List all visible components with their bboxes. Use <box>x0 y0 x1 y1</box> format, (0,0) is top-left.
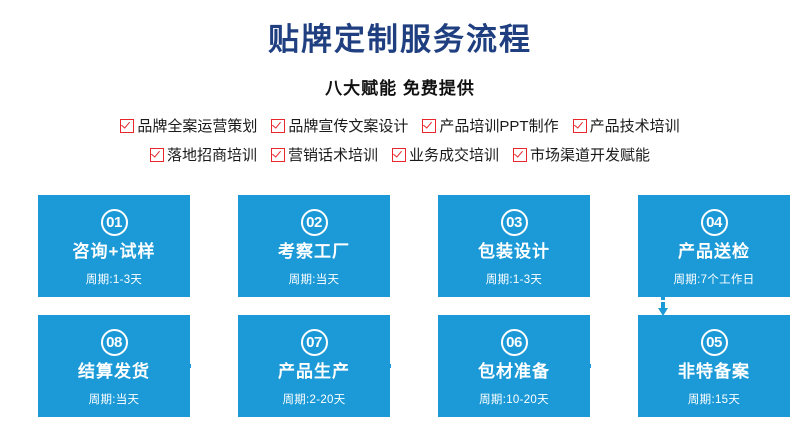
flow-step-05[interactable]: 05 非特备案 周期:15天 <box>638 315 790 417</box>
checkbox-checked-icon <box>573 119 587 133</box>
benefit-item: 落地招商培训 <box>150 144 257 165</box>
step-number: 01 <box>101 209 128 236</box>
step-period: 周期:7个工作日 <box>674 271 755 287</box>
checkbox-checked-icon <box>392 148 406 162</box>
step-period: 周期:10-20天 <box>479 391 549 407</box>
benefit-label: 业务成交培训 <box>409 144 499 165</box>
step-period: 周期:1-3天 <box>486 271 542 287</box>
checkbox-checked-icon <box>271 148 285 162</box>
benefit-item: 产品技术培训 <box>573 115 680 136</box>
step-title: 包材准备 <box>478 363 550 382</box>
checkbox-checked-icon <box>271 119 285 133</box>
benefit-item: 业务成交培训 <box>392 144 499 165</box>
arrow-down-icon <box>657 297 669 317</box>
checkbox-checked-icon <box>422 119 436 133</box>
process-flow-diagram: 01 咨询+试样 周期:1-3天 02 考察工厂 周期:当天 03 包装设计 周… <box>0 190 800 425</box>
step-period: 周期:15天 <box>688 391 740 407</box>
step-title: 咨询+试样 <box>73 243 156 262</box>
step-number: 04 <box>701 209 728 236</box>
arrow-left-icon <box>157 360 191 372</box>
benefit-label: 产品培训PPT制作 <box>439 115 558 136</box>
step-period: 周期:2-20天 <box>282 391 345 407</box>
checkbox-checked-icon <box>120 119 134 133</box>
arrow-left-icon <box>557 360 591 372</box>
step-period: 周期:1-3天 <box>86 271 142 287</box>
checkbox-checked-icon <box>150 148 164 162</box>
step-title: 结算发货 <box>78 363 150 382</box>
step-title: 非特备案 <box>678 363 750 382</box>
step-title: 包装设计 <box>478 243 550 262</box>
step-title: 产品生产 <box>278 363 350 382</box>
arrow-left-icon <box>357 360 391 372</box>
flow-row-bottom: 08 结算发货 周期:当天 07 产品生产 周期:2-20天 06 包材准备 周… <box>38 315 790 417</box>
benefit-label: 落地招商培训 <box>167 144 257 165</box>
benefit-item: 营销话术培训 <box>271 144 378 165</box>
benefits-row-1: 品牌全案运营策划 品牌宣传文案设计 产品培训PPT制作 产品技术培训 <box>0 115 800 136</box>
benefit-label: 产品技术培训 <box>590 115 680 136</box>
flow-row-top: 01 咨询+试样 周期:1-3天 02 考察工厂 周期:当天 03 包装设计 周… <box>38 195 790 297</box>
step-title: 考察工厂 <box>278 243 350 262</box>
step-number: 07 <box>301 329 328 356</box>
benefit-item: 市场渠道开发赋能 <box>513 144 650 165</box>
arrow-right-icon <box>557 240 591 252</box>
step-period: 周期:当天 <box>89 391 140 407</box>
step-number: 06 <box>501 329 528 356</box>
page-subtitle: 八大赋能 免费提供 <box>0 74 800 99</box>
step-period: 周期:当天 <box>289 271 340 287</box>
benefit-label: 品牌宣传文案设计 <box>288 115 408 136</box>
flow-step-04[interactable]: 04 产品送检 周期:7个工作日 <box>638 195 790 297</box>
step-number: 08 <box>101 329 128 356</box>
step-number: 05 <box>701 329 728 356</box>
checkbox-checked-icon <box>513 148 527 162</box>
benefit-label: 营销话术培训 <box>288 144 378 165</box>
benefit-label: 品牌全案运营策划 <box>137 115 257 136</box>
benefits-row-2: 落地招商培训 营销话术培训 业务成交培训 市场渠道开发赋能 <box>0 144 800 165</box>
step-number: 02 <box>301 209 328 236</box>
benefit-item: 品牌宣传文案设计 <box>271 115 408 136</box>
arrow-right-icon <box>157 240 191 252</box>
page-title: 贴牌定制服务流程 <box>0 0 800 55</box>
benefit-label: 市场渠道开发赋能 <box>530 144 650 165</box>
step-number: 03 <box>501 209 528 236</box>
benefit-item: 产品培训PPT制作 <box>422 115 558 136</box>
benefit-item: 品牌全案运营策划 <box>120 115 257 136</box>
arrow-right-icon <box>357 240 391 252</box>
step-title: 产品送检 <box>678 243 750 262</box>
benefits-list: 品牌全案运营策划 品牌宣传文案设计 产品培训PPT制作 产品技术培训 落地招商培… <box>0 115 800 165</box>
